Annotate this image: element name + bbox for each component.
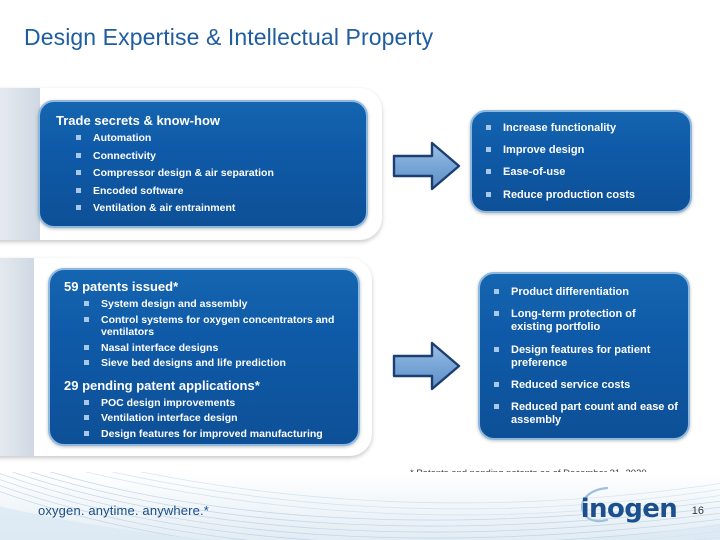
list-item: Design features for patient preference (494, 344, 678, 370)
list-item: Reduced part count and ease of assembly (494, 401, 678, 427)
tagline: oxygen. anytime. anywhere.* (38, 503, 209, 518)
list-item: Sieve bed designs and life prediction (84, 357, 348, 370)
patents-box: 59 patents issued* System design and ass… (48, 268, 360, 446)
patents-issued-heading: 59 patents issued* (64, 280, 348, 295)
list-item: System design and assembly (84, 298, 348, 311)
benefits-box-1: Increase functionality Improve design Ea… (470, 110, 692, 213)
row2-shell-strip (0, 258, 34, 456)
benefits-2-bullet-list: Product differentiation Long-term protec… (494, 286, 678, 428)
list-item: Ventilation interface design (84, 412, 348, 425)
right-arrow-icon (392, 340, 462, 392)
pending-applications-bullet-list: POC design improvements Ventilation inte… (84, 397, 348, 441)
row1-shell-strip (0, 88, 40, 240)
list-item: POC design improvements (84, 397, 348, 410)
list-item: Increase functionality (486, 122, 680, 135)
logo-wrap: inogen 16 (581, 492, 704, 522)
list-item: Automation (76, 132, 354, 145)
list-item: Ease-of-use (486, 166, 680, 179)
list-item: Encoded software (76, 185, 354, 198)
trade-secrets-heading: Trade secrets & know-how (56, 114, 354, 129)
list-item: Ventilation & air entrainment (76, 202, 354, 215)
slide-canvas: Design Expertise & Intellectual Property… (0, 0, 720, 540)
list-item: Compressor design & air separation (76, 167, 354, 180)
list-item: Improve design (486, 144, 680, 157)
benefits-1-bullet-list: Increase functionality Improve design Ea… (486, 122, 680, 202)
list-item: Reduced service costs (494, 379, 678, 392)
right-arrow-icon (392, 140, 462, 192)
benefits-box-2: Product differentiation Long-term protec… (478, 272, 690, 440)
inogen-logo: inogen (581, 492, 685, 522)
list-item: Long-term protection of existing portfol… (494, 308, 678, 334)
patents-issued-bullet-list: System design and assembly Control syste… (84, 298, 348, 370)
list-item: Design features for improved manufacturi… (84, 428, 348, 441)
list-item: Product differentiation (494, 286, 678, 299)
pending-applications-heading: 29 pending patent applications* (64, 379, 348, 394)
list-item: Control systems for oxygen concentrators… (84, 314, 348, 339)
logo-text: inogen (581, 494, 677, 524)
list-item: Connectivity (76, 150, 354, 163)
page-number: 16 (692, 505, 704, 522)
list-item: Reduce production costs (486, 189, 680, 202)
page-title: Design Expertise & Intellectual Property (24, 24, 433, 51)
slide-footer: oxygen. anytime. anywhere.* inogen 16 (0, 472, 720, 540)
trade-secrets-bullet-list: Automation Connectivity Compressor desig… (76, 132, 354, 215)
trade-secrets-box: Trade secrets & know-how Automation Conn… (38, 100, 368, 228)
list-item: Nasal interface designs (84, 342, 348, 355)
